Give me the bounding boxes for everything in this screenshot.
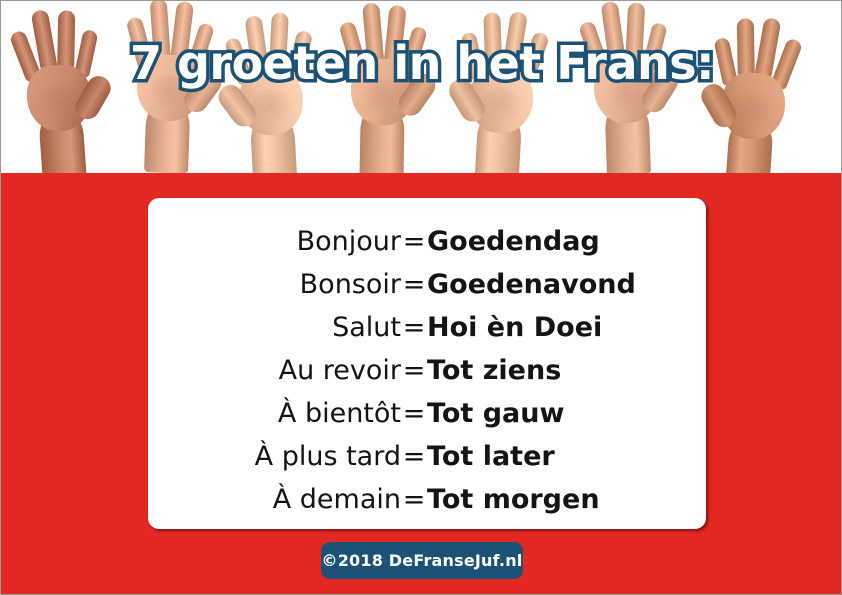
equals-separator: = [401, 349, 427, 392]
phrase-row: À bientôt=Tot gauw [148, 392, 706, 435]
phrase-dutch: Hoi èn Doei [427, 306, 706, 349]
hand-4 [326, 4, 441, 173]
hand-1 [1, 7, 121, 173]
hand-6 [567, 1, 685, 173]
finger [483, 12, 502, 73]
hand-7 [691, 15, 815, 173]
phrase-dutch: Tot morgen [427, 478, 706, 521]
equals-separator: = [401, 435, 427, 478]
phrase-dutch: Tot gauw [427, 392, 706, 435]
equals-separator: = [401, 306, 427, 349]
phrase-french: À demain [148, 478, 401, 521]
hand-5 [441, 10, 562, 173]
finger [57, 10, 75, 70]
phrase-french: Salut [148, 306, 401, 349]
phrase-dutch: Goedendag [427, 220, 706, 263]
hand-3 [211, 12, 332, 173]
copyright-badge-label: ©2018 DeFranseJuf.nl [322, 551, 523, 570]
phrase-list: Bonjour=GoedendagBonsoir=GoedenavondSalu… [148, 220, 706, 521]
phrase-french: À plus tard [148, 435, 401, 478]
phrase-dutch: Goedenavond [427, 263, 706, 306]
phrase-row: À demain=Tot morgen [148, 478, 706, 521]
phrase-dutch: Tot later [427, 435, 706, 478]
finger [362, 2, 384, 65]
phrase-french: Bonjour [148, 220, 401, 263]
phrase-row: Bonjour=Goedendag [148, 220, 706, 263]
phrase-row: Au revoir=Tot ziens [148, 349, 706, 392]
equals-separator: = [401, 263, 427, 306]
phrase-dutch: Tot ziens [427, 349, 706, 392]
phrase-french: Bonsoir [148, 263, 401, 306]
phrase-row: Salut=Hoi èn Doei [148, 306, 706, 349]
phrase-french: Au revoir [148, 349, 401, 392]
phrase-french: À bientôt [148, 392, 401, 435]
phrase-row: À plus tard=Tot later [148, 435, 706, 478]
phrase-card: Bonjour=GoedendagBonsoir=GoedenavondSalu… [148, 198, 706, 529]
poster-canvas: 7 groeten in het Frans: Bonjour=Goedenda… [0, 0, 842, 595]
hands-photo-band [1, 1, 842, 173]
finger [150, 1, 171, 61]
copyright-badge: ©2018 DeFranseJuf.nl [321, 542, 523, 579]
equals-separator: = [401, 392, 427, 435]
equals-separator: = [401, 478, 427, 521]
finger [625, 2, 645, 63]
finger [269, 12, 289, 75]
phrase-row: Bonsoir=Goedenavond [148, 263, 706, 306]
finger [737, 18, 755, 78]
equals-separator: = [401, 220, 427, 263]
